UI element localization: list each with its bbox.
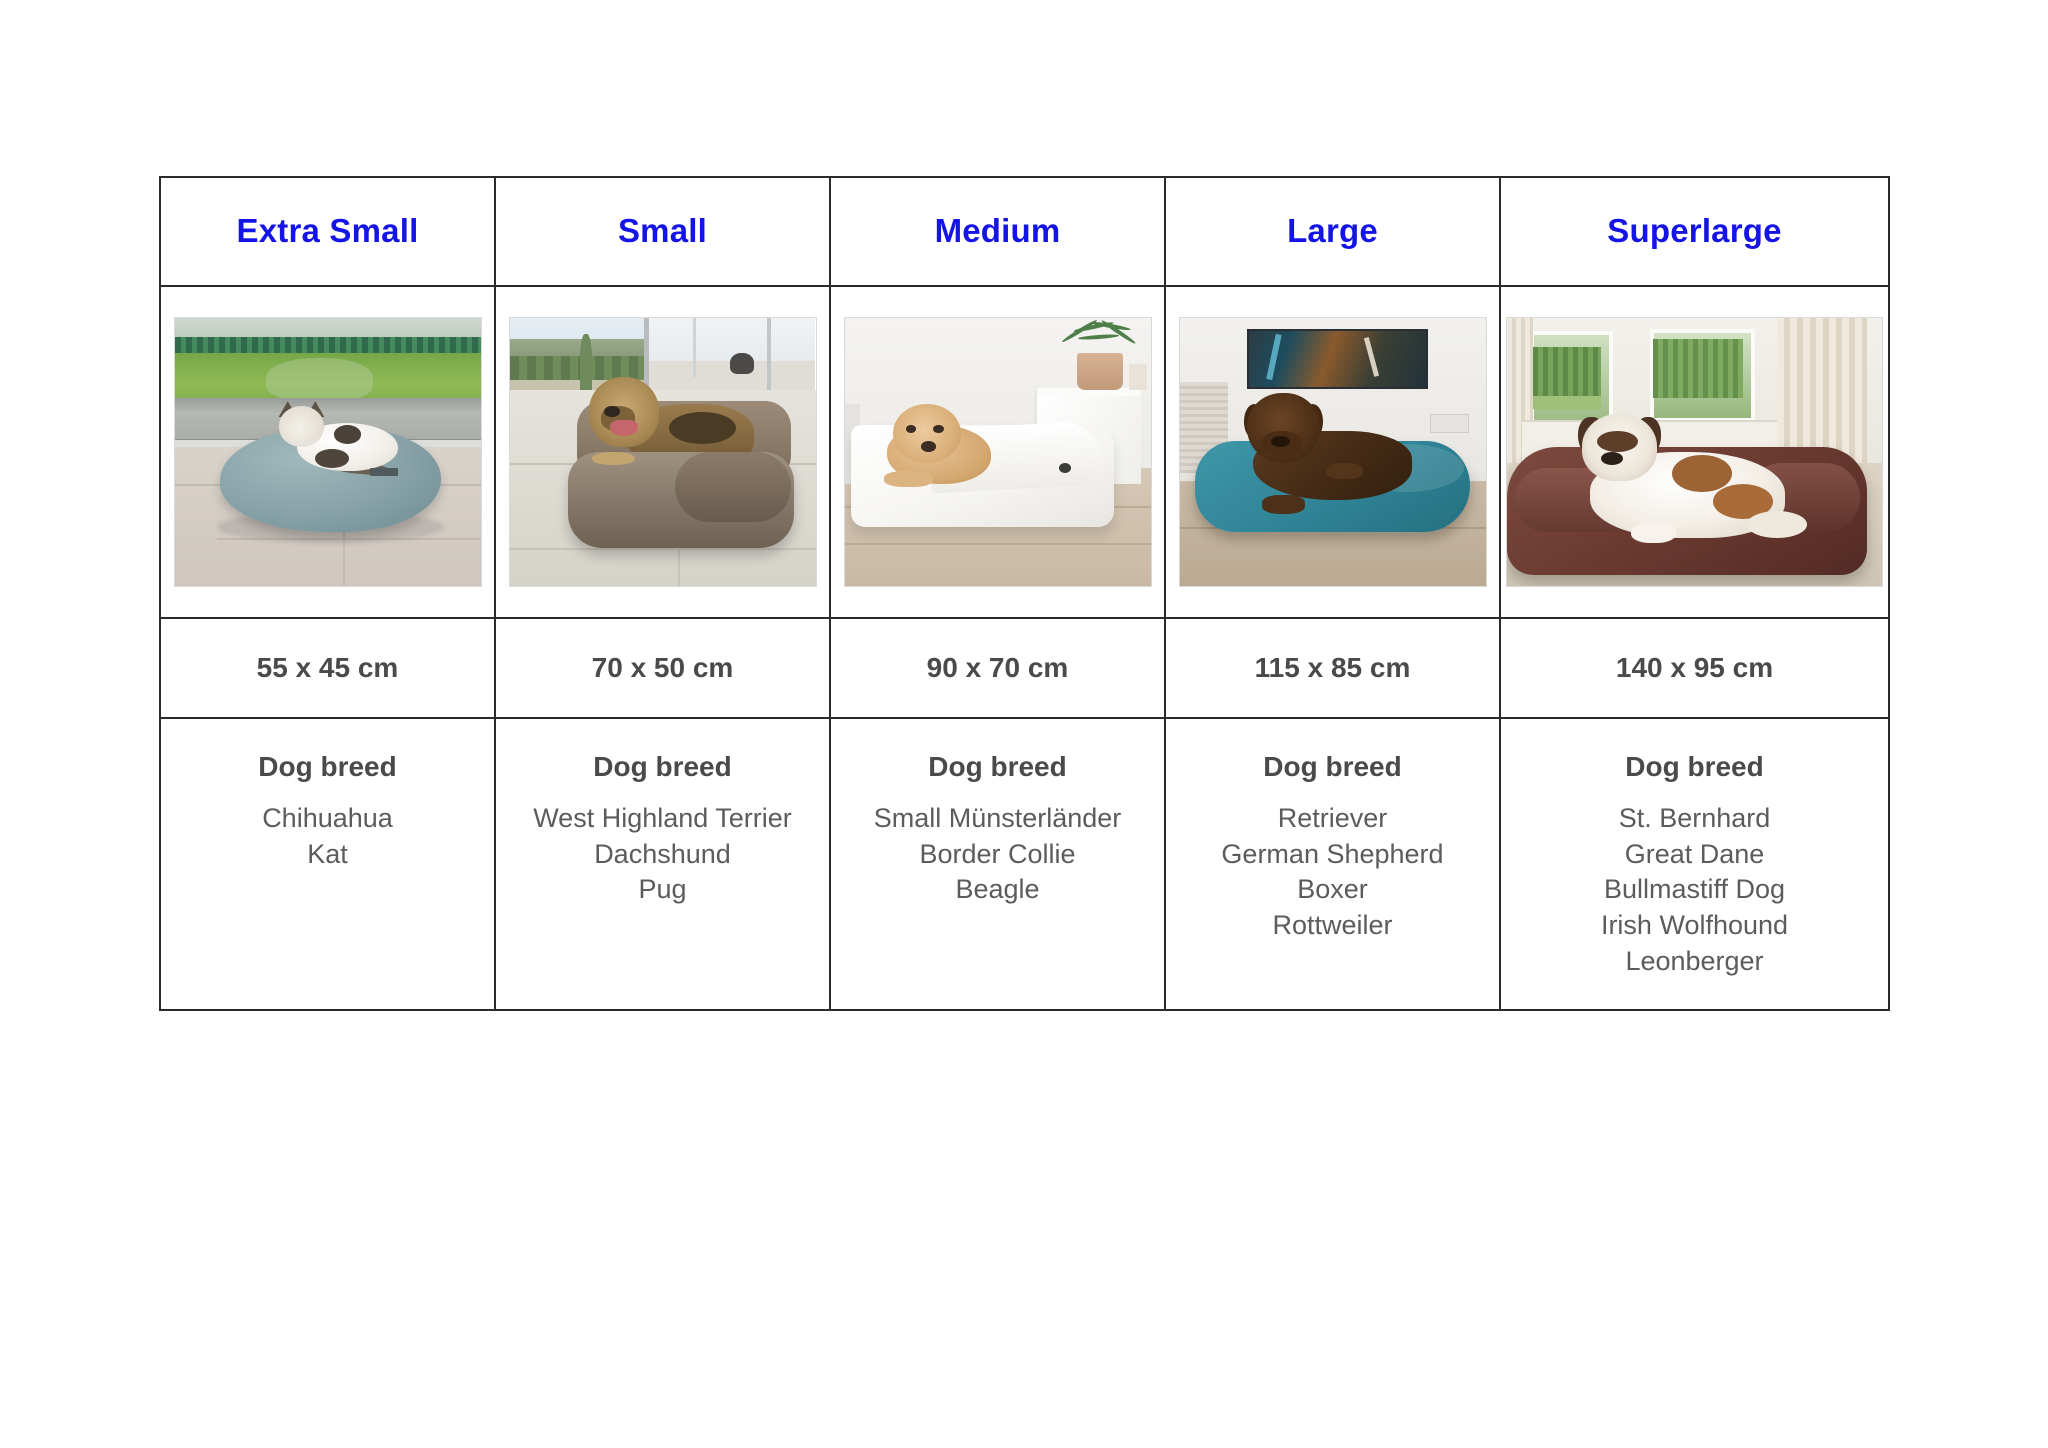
breed-title: Dog breed: [1166, 751, 1499, 783]
dimensions-cell-large: 115 x 85 cm: [1165, 618, 1500, 718]
breed-item: Dachshund: [496, 837, 829, 873]
breed-block: Dog breed Small Münsterländer Border Col…: [831, 719, 1164, 908]
dimensions-label: 115 x 85 cm: [1166, 652, 1499, 684]
dog-paw: [884, 471, 933, 487]
floor-plank-line: [845, 543, 1151, 545]
size-header-label: Medium: [831, 213, 1164, 249]
breed-item: Kat: [161, 837, 494, 873]
size-header-label: Superlarge: [1501, 213, 1888, 249]
size-header-label: Extra Small: [161, 213, 494, 249]
dimensions-label: 140 x 95 cm: [1501, 652, 1888, 684]
photo-cell-extra-small: [160, 286, 495, 618]
leaf: [1101, 319, 1137, 345]
table-row-photos: [160, 286, 1889, 618]
dog-bed-size-table: Extra Small Small Medium Large Superlarg…: [159, 176, 1890, 1011]
dimensions-cell-medium: 90 x 70 cm: [830, 618, 1165, 718]
dog-open-mouth: [610, 420, 638, 436]
size-header-cell-large: Large: [1165, 177, 1500, 286]
breed-item: Border Collie: [831, 837, 1164, 873]
dog-fur-patch: [1672, 455, 1732, 493]
cat-fur-patch: [315, 449, 349, 468]
breed-item: Beagle: [831, 872, 1164, 908]
window-mullion: [693, 318, 696, 377]
dog-face-mask: [1597, 431, 1638, 452]
photo-wrapper: [496, 287, 829, 617]
breed-list: Small Münsterländer Border Collie Beagle: [831, 801, 1164, 908]
product-photo-extra-small: [174, 317, 482, 587]
hedge: [1533, 347, 1601, 395]
dimensions-label: 55 x 45 cm: [161, 652, 494, 684]
dog-bed-side-bolster: [675, 452, 791, 522]
cat-fur-patch: [334, 425, 362, 444]
breed-block: Dog breed St. Bernhard Great Dane Bullma…: [1501, 719, 1888, 979]
table-row-size-names: Extra Small Small Medium Large Superlarg…: [160, 177, 1889, 286]
product-photo-small: [509, 317, 817, 587]
dimensions-cell-extra-small: 55 x 45 cm: [160, 618, 495, 718]
photo-wrapper: [831, 287, 1164, 617]
breed-item: German Shepherd: [1166, 837, 1499, 873]
breed-item: Boxer: [1166, 872, 1499, 908]
page-canvas: Extra Small Small Medium Large Superlarg…: [0, 0, 2048, 1448]
breed-title: Dog breed: [831, 751, 1164, 783]
table-row-breeds: Dog breed Chihuahua Kat Dog breed West H…: [160, 718, 1889, 1010]
photo-cell-superlarge: [1500, 286, 1889, 618]
breed-item: Great Dane: [1501, 837, 1888, 873]
breed-title: Dog breed: [496, 751, 829, 783]
photo-cell-small: [495, 286, 830, 618]
photo-wrapper: [1166, 287, 1499, 617]
breed-item: Rottweiler: [1166, 908, 1499, 944]
breed-item: Leonberger: [1501, 944, 1888, 980]
breed-cell-small: Dog breed West Highland Terrier Dachshun…: [495, 718, 830, 1010]
dog-head: [893, 404, 960, 463]
size-header-cell-superlarge: Superlarge: [1500, 177, 1889, 286]
photo-wrapper: [161, 287, 494, 617]
dog-paw: [592, 452, 635, 465]
product-photo-superlarge: [1506, 317, 1883, 587]
fern-plant: [1056, 323, 1142, 363]
breed-block: Dog breed Retriever German Shepherd Boxe…: [1166, 719, 1499, 944]
dog-paw: [1262, 495, 1305, 514]
table-row-dimensions: 55 x 45 cm 70 x 50 cm 90 x 70 cm 115 x 8…: [160, 618, 1889, 718]
dimensions-cell-superlarge: 140 x 95 cm: [1500, 618, 1889, 718]
cat-head: [279, 406, 325, 446]
photo-cell-medium: [830, 286, 1165, 618]
breed-title: Dog breed: [161, 751, 494, 783]
breed-item: Irish Wolfhound: [1501, 908, 1888, 944]
dimensions-label: 70 x 50 cm: [496, 652, 829, 684]
size-header-cell-small: Small: [495, 177, 830, 286]
tile-grout-line: [510, 548, 816, 550]
dog-paw: [1631, 522, 1676, 543]
size-header-label: Large: [1166, 213, 1499, 249]
breed-item: West Highland Terrier: [496, 801, 829, 837]
wall-socket: [1430, 414, 1469, 432]
dimensions-label: 90 x 70 cm: [831, 652, 1164, 684]
breed-block: Dog breed Chihuahua Kat: [161, 719, 494, 872]
breed-list: St. Bernhard Great Dane Bullmastiff Dog …: [1501, 801, 1888, 979]
breed-list: Retriever German Shepherd Boxer Rottweil…: [1166, 801, 1499, 944]
dog-paw: [1326, 463, 1363, 479]
breed-list: Chihuahua Kat: [161, 801, 494, 872]
breed-cell-large: Dog breed Retriever German Shepherd Boxe…: [1165, 718, 1500, 1010]
photo-wrapper: [1501, 287, 1888, 617]
dog-nose: [1271, 436, 1289, 447]
product-photo-medium: [844, 317, 1152, 587]
candle: [1129, 364, 1147, 391]
dimensions-cell-small: 70 x 50 cm: [495, 618, 830, 718]
breed-item: Small Münsterländer: [831, 801, 1164, 837]
cactus-plant: [580, 334, 592, 398]
photo-cell-large: [1165, 286, 1500, 618]
leaf: [1078, 334, 1119, 341]
breed-item: St. Bernhard: [1501, 801, 1888, 837]
breed-cell-superlarge: Dog breed St. Bernhard Great Dane Bullma…: [1500, 718, 1889, 1010]
dog-nose: [604, 406, 619, 417]
size-header-cell-extra-small: Extra Small: [160, 177, 495, 286]
breed-item: Chihuahua: [161, 801, 494, 837]
breed-cell-extra-small: Dog breed Chihuahua Kat: [160, 718, 495, 1010]
person-outside: [730, 353, 754, 374]
breed-item: Pug: [496, 872, 829, 908]
breed-item: Retriever: [1166, 801, 1499, 837]
lawn: [175, 353, 481, 404]
dog-saddle-marking: [669, 412, 736, 444]
hedge: [1653, 339, 1743, 398]
breed-title: Dog breed: [1501, 751, 1888, 783]
breed-item: Bullmastiff Dog: [1501, 872, 1888, 908]
size-header-cell-medium: Medium: [830, 177, 1165, 286]
size-header-label: Small: [496, 213, 829, 249]
breed-list: West Highland Terrier Dachshund Pug: [496, 801, 829, 908]
breed-block: Dog breed West Highland Terrier Dachshun…: [496, 719, 829, 908]
breed-cell-medium: Dog breed Small Münsterländer Border Col…: [830, 718, 1165, 1010]
dog-tail: [1747, 511, 1807, 538]
product-photo-large: [1179, 317, 1487, 587]
bed-brand-label: [370, 468, 398, 476]
